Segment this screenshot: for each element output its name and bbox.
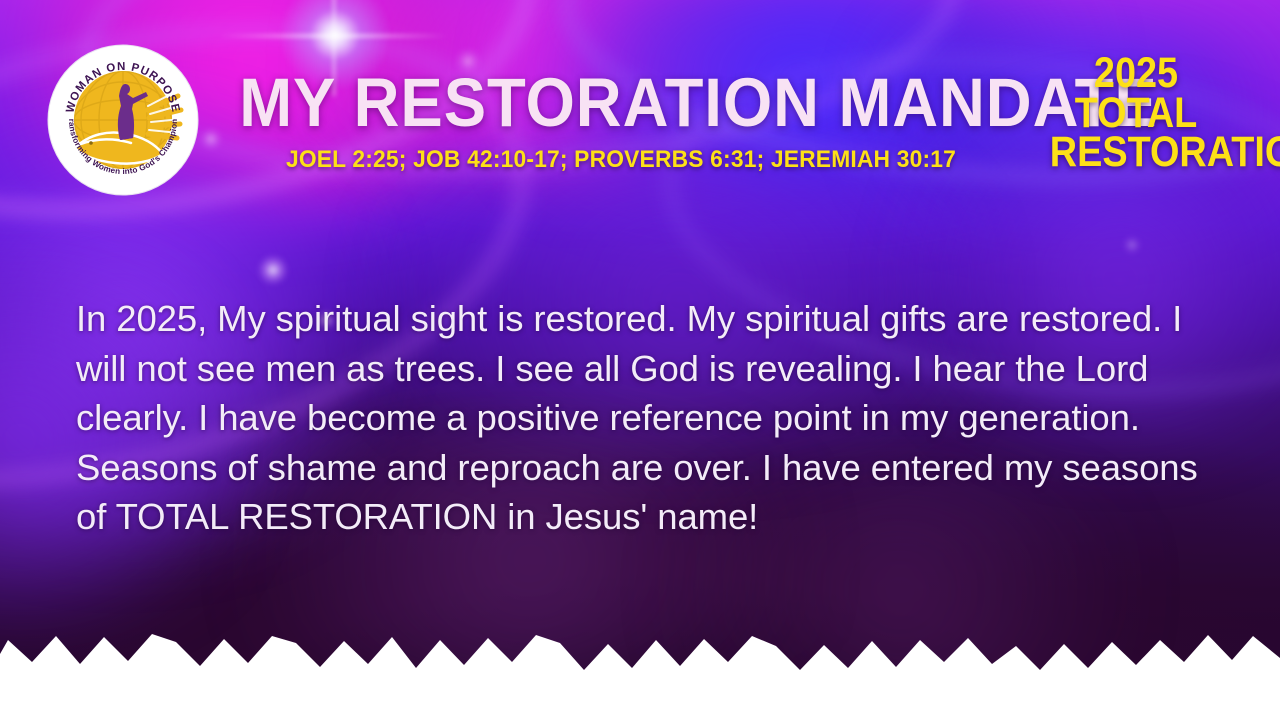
year-theme-badge: 2025 TOTAL RESTORATION bbox=[1038, 54, 1234, 173]
star-burst-rays bbox=[333, 35, 335, 37]
badge-line-1: 2025 TOTAL bbox=[1050, 54, 1222, 133]
sparkle-icon-5 bbox=[1123, 236, 1141, 254]
flyer-canvas: WOMAN ON PURPOSE Transforming Women into… bbox=[0, 0, 1280, 720]
header-block: MY RESTORATION MANDATE JOEL 2:25; JOB 42… bbox=[206, 70, 1036, 174]
declaration-text: In 2025, My spiritual sight is restored.… bbox=[76, 294, 1206, 542]
woman-on-purpose-logo: WOMAN ON PURPOSE Transforming Women into… bbox=[47, 44, 199, 196]
scripture-references: JOEL 2:25; JOB 42:10-17; PROVERBS 6:31; … bbox=[227, 146, 1016, 174]
sparkle-icon-1 bbox=[258, 255, 288, 285]
page-title: MY RESTORATION MANDATE bbox=[239, 70, 1003, 136]
badge-line-2: RESTORATION bbox=[1050, 133, 1222, 173]
